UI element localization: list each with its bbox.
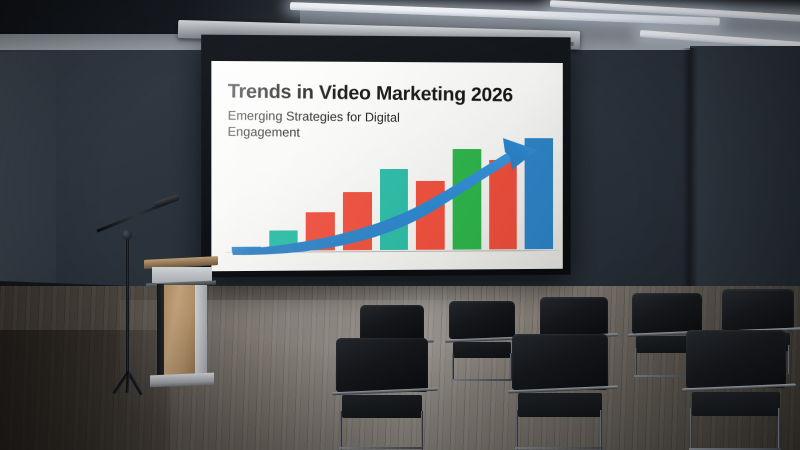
chair-seat	[453, 342, 511, 358]
chair-base-rail	[451, 379, 512, 381]
presentation-slide: Trends in Video Marketing 2026 Emerging …	[211, 61, 562, 271]
audience-chair[interactable]	[512, 334, 608, 442]
chair-backrest	[632, 293, 702, 334]
chair-seat	[518, 393, 602, 417]
chair-leg	[690, 408, 692, 450]
chair-backrest	[540, 297, 608, 337]
chair-base-rail	[339, 447, 424, 449]
projection-screen[interactable]: Trends in Video Marketing 2026 Emerging …	[201, 35, 570, 278]
chair-seat	[342, 395, 423, 418]
bar-chart	[220, 136, 561, 265]
chair-leg	[635, 348, 637, 378]
chair-leg	[340, 411, 342, 450]
chair-leg	[421, 411, 423, 450]
chair-backrest	[722, 289, 794, 331]
chair-seat	[692, 392, 780, 417]
mic-stand-pole	[126, 234, 129, 376]
mic-tripod-leg	[126, 372, 130, 393]
chair-backrest	[686, 330, 786, 388]
chair-leg	[788, 345, 790, 375]
mic-boom-joint	[122, 230, 132, 240]
podium-right-edge	[195, 285, 207, 377]
chair-leg	[452, 353, 454, 381]
audience-chair[interactable]	[449, 301, 515, 375]
chair-leg	[600, 410, 602, 450]
chair-backrest	[360, 305, 424, 342]
chair-base-rail	[515, 447, 603, 449]
chair-backrest	[336, 338, 428, 392]
chair-base-rail	[689, 448, 781, 450]
growth-arrow-icon	[220, 136, 561, 265]
chair-leg	[778, 408, 780, 450]
audience-chair[interactable]	[336, 338, 428, 442]
conference-room-scene: Trends in Video Marketing 2026 Emerging …	[0, 0, 800, 450]
chair-backrest	[449, 301, 515, 339]
slide-title: Trends in Video Marketing 2026	[228, 81, 550, 106]
microphone-stand[interactable]	[92, 200, 188, 396]
audience-chair[interactable]	[686, 330, 786, 442]
projection-screen-surface: Trends in Video Marketing 2026 Emerging …	[211, 61, 562, 271]
chair-leg	[516, 410, 518, 450]
chair-backrest	[512, 334, 608, 390]
